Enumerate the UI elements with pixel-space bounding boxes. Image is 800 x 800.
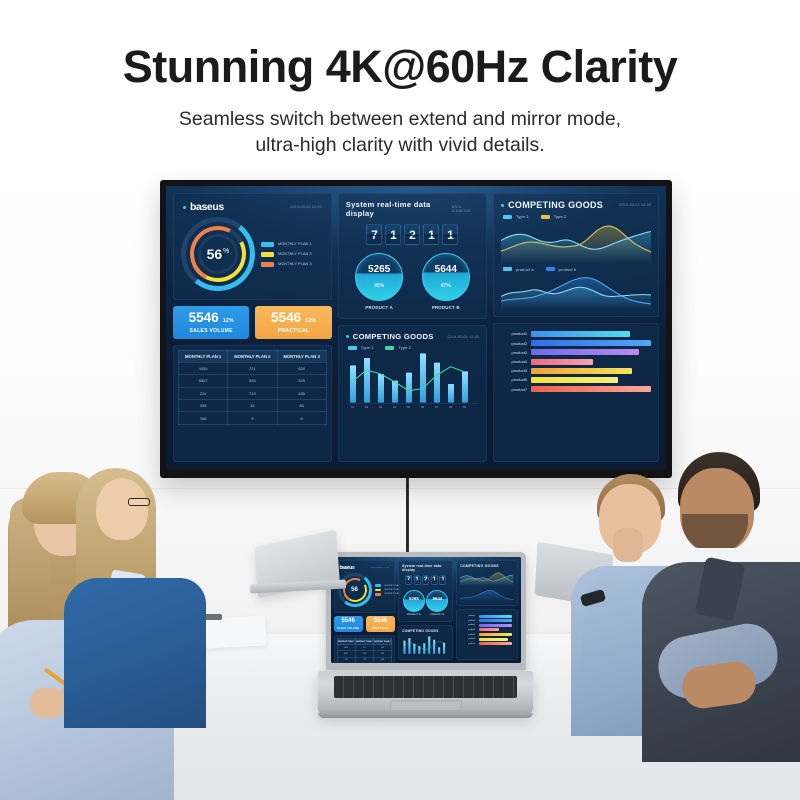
kpi-value: 5546 xyxy=(189,311,219,325)
list-item[interactable]: product3 xyxy=(462,624,511,627)
svg-text:01: 01 xyxy=(351,405,354,409)
kpi-delta: 12% xyxy=(305,318,316,324)
table-cell: 9 xyxy=(228,412,277,424)
gauge-label: PRODUCT B xyxy=(422,305,470,310)
legend-label: MONTHLY PLAN 3 xyxy=(278,262,312,266)
legend-chip-type1 xyxy=(503,215,512,219)
mirror-brand-name: baseus xyxy=(340,565,355,571)
donut-legend: MONTHLY PLAN 1 MONTHLY PLAN 2 MONTHLY PL… xyxy=(261,242,312,267)
flip-digit: 1 xyxy=(385,224,401,245)
flip-digit: 1 xyxy=(423,224,439,245)
area-fill-product-a xyxy=(501,287,651,310)
competing-right-legend-mid: product a product b xyxy=(501,263,651,274)
liquid-gauge: 5644 47% xyxy=(422,253,470,301)
table-row[interactable]: 4055 721 620 xyxy=(179,362,327,374)
kpi-value: 5546 xyxy=(368,618,393,624)
gauge-value: 5644 xyxy=(427,596,447,601)
gauge-item-product-a: 5265 45% PRODUCT A xyxy=(355,253,403,310)
bar-fill xyxy=(531,377,618,383)
table-row[interactable]: 766 9 8 xyxy=(179,412,327,424)
table-header-row: MONTHLY PLAN 1 MONTHLY PLAN 2 MONTHLY PL… xyxy=(179,350,327,362)
legend-item: product b xyxy=(546,267,577,272)
table-row[interactable]: 224 719 485 xyxy=(337,657,392,663)
mirror-kpi-practical[interactable]: 5546 PRACTICAL xyxy=(366,616,395,632)
bar-label: product4 xyxy=(462,629,475,631)
list-item[interactable]: product4 xyxy=(501,359,651,365)
person-man-front-right xyxy=(648,452,800,752)
mirror-kpi-sales[interactable]: 5546 SALES VOLUME xyxy=(334,616,363,632)
flip-digit: 2 xyxy=(422,575,429,585)
table-cell: 485 xyxy=(277,387,326,399)
mirror-gauge-a: 5265 PRODUCT A xyxy=(403,590,425,616)
donut-chart: 56% xyxy=(181,217,255,291)
head xyxy=(96,478,148,540)
mirror-ranking-card: product1 product2 product3 xyxy=(456,609,517,660)
headline-block: Stunning 4K@60Hz Clarity Seamless switch… xyxy=(0,42,800,158)
competing-right-stamp: 2019-03-02 12:30 xyxy=(619,203,651,207)
bar-fill xyxy=(531,331,630,337)
flip-digit: 1 xyxy=(442,224,458,245)
legend-chip-plan1 xyxy=(261,242,274,247)
table-cell: 620 xyxy=(277,362,326,374)
competing-goods-bar-line-chart: 010203 040506 070809 xyxy=(346,352,479,409)
list-item[interactable]: product2 xyxy=(501,340,651,346)
svg-text:04: 04 xyxy=(393,405,396,409)
kpi-row: 5546 12% SALES VOLUME 5546 12% PR xyxy=(173,306,332,339)
bar-label: product7 xyxy=(462,643,475,645)
laptop-keyboard[interactable] xyxy=(334,676,517,698)
gauge-label: PRODUCT A xyxy=(355,305,403,310)
svg-text:03: 03 xyxy=(379,405,382,409)
donut-value: 56 xyxy=(207,246,223,262)
bar-label: product5 xyxy=(462,634,475,636)
donut-center-value: 56% xyxy=(181,217,255,291)
hand xyxy=(30,688,66,718)
table-cell: 8507 xyxy=(179,375,228,387)
bar-fill xyxy=(479,628,499,631)
realtime-title-row: System real-time data display DATA COUNT… xyxy=(346,200,479,218)
competing-bottom-title: COMPETING GOODS xyxy=(346,332,434,341)
bar-label: product3 xyxy=(501,350,527,355)
legend-chip-plan2 xyxy=(261,252,274,257)
product-ranking-card: product1 product2 product3 xyxy=(493,323,659,462)
subtitle-line-1: Seamless switch between extend and mirro… xyxy=(0,106,800,132)
competing-goods-right-card: COMPETING GOODS 2019-03-02 12:30 Type 1 xyxy=(493,193,659,317)
legend-item: MONTHLY PLAN 3 xyxy=(261,262,312,267)
monthly-plan-table-card: MONTHLY PLAN 1 MONTHLY PLAN 2 MONTHLY PL… xyxy=(173,345,332,463)
svg-text:02: 02 xyxy=(365,405,368,409)
flip-digit: 7 xyxy=(405,575,412,585)
bar-label: product5 xyxy=(501,368,527,373)
dashboard-column-left: baseus 2019-03-02 12:30 xyxy=(173,193,332,462)
legend-chip-type2 xyxy=(541,215,550,219)
mirror-column-left: baseus 2019-03-02 12:30 5 xyxy=(334,560,396,660)
bar-fill xyxy=(531,386,651,392)
glasses-icon xyxy=(128,498,150,506)
kpi-value: 5546 xyxy=(271,311,301,325)
legend-chip-product-a xyxy=(503,267,512,271)
gauge-percent: 47% xyxy=(423,283,469,289)
brand-timestamp: 2019-03-02 12:30 xyxy=(290,205,322,209)
mirror-realtime-card: System real-time data display 7 1 2 1 1 xyxy=(398,560,453,622)
kpi-label: SALES VOLUME xyxy=(177,328,245,334)
list-item[interactable]: product5 xyxy=(462,633,511,636)
list-item[interactable]: product6 xyxy=(462,638,511,641)
laptop-trackpad[interactable] xyxy=(390,700,462,711)
bar-label: product2 xyxy=(501,341,527,346)
table-header-cell: MONTHLY PLAN 3 xyxy=(277,350,326,362)
bar-fill xyxy=(531,340,651,346)
list-item[interactable]: product7 xyxy=(501,386,651,392)
legend-chip-plan1 xyxy=(375,584,381,586)
list-item[interactable]: product7 xyxy=(462,642,511,645)
bar-fill xyxy=(531,359,592,365)
gauge-label: PRODUCT A xyxy=(403,614,425,616)
table-row[interactable]: 224 719 485 xyxy=(179,387,327,399)
table-cell: 83 xyxy=(277,400,326,412)
kpi-label: SALES VOLUME xyxy=(336,627,361,630)
flip-digit: 1 xyxy=(431,575,438,585)
donut-unit: % xyxy=(223,248,229,255)
legend-label: Type 1 xyxy=(516,214,529,219)
legend-item: Type 1 xyxy=(348,345,374,350)
bullet-icon xyxy=(501,204,504,207)
competing-goods-area-chart-top xyxy=(501,221,651,263)
bar-label: product6 xyxy=(501,377,527,382)
area-fill-type1 xyxy=(460,575,513,586)
list-item[interactable]: product1 xyxy=(462,615,511,618)
table-cell: 894 xyxy=(228,375,277,387)
bullet-icon xyxy=(346,335,349,338)
competing-bottom-stamp: 2019-03-02 13:30 xyxy=(448,335,480,339)
primary-laptop: baseus 2019-03-02 12:30 5 xyxy=(318,552,533,715)
flip-digit: 1 xyxy=(414,575,421,585)
mirror-column-right: COMPETING GOODS xyxy=(456,560,517,660)
bar-fill xyxy=(479,642,511,645)
legend-chip-type1 xyxy=(348,346,357,350)
brand-donut-card: baseus 2019-03-02 12:30 xyxy=(173,193,332,300)
table-row[interactable]: 455 32 83 xyxy=(179,400,327,412)
mirror-competing-bottom-card: COMPETING GOODS xyxy=(398,625,453,660)
mirror-realtime-title: System real-time data display xyxy=(402,564,449,572)
table-cell: 4055 xyxy=(179,362,228,374)
legend-item: MONTHLY PLAN 2 xyxy=(261,252,312,257)
torso-blazer xyxy=(64,578,206,728)
dashboard-mirror: baseus 2019-03-02 12:30 5 xyxy=(331,557,521,663)
svg-text:08: 08 xyxy=(449,405,452,409)
mirror-table-card: MONTHLY PLAN 1 MONTHLY PLAN 2 MONTHLY PL… xyxy=(334,635,396,663)
mirror-competing-right-title: COMPETING GOODS xyxy=(460,564,513,568)
mirror-competing-bottom-title: COMPETING GOODS xyxy=(402,629,449,633)
brand-name: baseus xyxy=(190,201,224,213)
mirror-brand-stamp: 2019-03-02 12:30 xyxy=(370,567,389,569)
legend-label: MONTHLY PLAN 1 xyxy=(278,242,312,246)
area-fill-type1 xyxy=(501,231,651,262)
bar-fill xyxy=(479,633,511,636)
kpi-top: 5546 12% xyxy=(259,311,327,325)
flip-digit: 7 xyxy=(366,224,382,245)
table-cell: 325 xyxy=(277,375,326,387)
mirror-table: MONTHLY PLAN 1 MONTHLY PLAN 2 MONTHLY PL… xyxy=(337,638,393,663)
mirror-donut-wrap: 56 MONTHLY PLAN 1 xyxy=(338,571,392,609)
mirror-bar-line-chart xyxy=(402,636,449,656)
competing-right-title: COMPETING GOODS xyxy=(501,200,603,210)
mirror-donut-value: 56 xyxy=(338,573,372,607)
legend-label: Type 1 xyxy=(361,345,374,350)
bar-fill xyxy=(479,615,511,618)
mirror-flip-counter: 7 1 2 1 1 xyxy=(402,572,449,588)
legend-label: Type 2 xyxy=(554,214,567,219)
table-cell: 32 xyxy=(228,400,277,412)
list-item[interactable]: product3 xyxy=(501,349,651,355)
competing-bottom-title-text: COMPETING GOODS xyxy=(353,332,434,341)
table-cell: 455 xyxy=(179,400,228,412)
dashboard-column-right: COMPETING GOODS 2019-03-02 12:30 Type 1 xyxy=(493,193,659,462)
chart-x-ticks: 010203 040506 070809 xyxy=(351,405,466,409)
realtime-title: System real-time data display xyxy=(346,200,452,218)
svg-text:05: 05 xyxy=(407,405,410,409)
gauge-item-product-b: 5644 47% PRODUCT B xyxy=(422,253,470,310)
table-header-cell: MONTHLY PLAN 2 xyxy=(228,350,277,362)
brand: baseus xyxy=(183,201,224,213)
kpi-card-sales-volume[interactable]: 5546 12% SALES VOLUME xyxy=(173,306,249,339)
table-header-cell: MONTHLY PLAN 1 xyxy=(179,350,228,362)
product-ranking-bar-list: product1 product2 product3 xyxy=(499,329,653,392)
legend-label: Type 2 xyxy=(398,345,411,350)
bullet-icon xyxy=(183,206,186,209)
mirror-area-chart-mid xyxy=(460,589,513,602)
mirror-kpi-row: 5546 SALES VOLUME 5546 PRACTICAL xyxy=(334,616,396,632)
dashboard: baseus 2019-03-02 12:30 xyxy=(166,186,666,469)
legend-item: Type 2 xyxy=(541,214,567,219)
table-cell: 719 xyxy=(228,387,277,399)
competing-right-title-row: COMPETING GOODS 2019-03-02 12:30 xyxy=(501,200,651,210)
gauge-percent: 45% xyxy=(356,283,402,289)
bar-label: product7 xyxy=(501,387,527,392)
bar-fill xyxy=(479,638,508,641)
table-body: 4055 721 620 8507 894 325 xyxy=(179,362,327,424)
bar-label: product1 xyxy=(462,615,475,617)
competing-bottom-title-row: COMPETING GOODS 2019-03-02 13:30 xyxy=(346,332,479,341)
page-subtitle: Seamless switch between extend and mirro… xyxy=(0,106,800,159)
competing-right-title-text: COMPETING GOODS xyxy=(508,200,603,210)
liquid-gauge: 5644 xyxy=(426,590,448,612)
svg-text:06: 06 xyxy=(421,405,424,409)
legend-label: MONTHLY PLAN 2 xyxy=(278,252,312,256)
table-cell: 721 xyxy=(228,362,277,374)
table-cell: 224 xyxy=(179,387,228,399)
legend-label: product b xyxy=(559,267,577,272)
legend-item: Type 2 xyxy=(385,345,411,350)
mirror-bar-list: product1 product2 product3 xyxy=(460,613,513,646)
bar-label: product1 xyxy=(501,331,527,336)
bar-fill xyxy=(531,349,639,355)
list-item[interactable]: product6 xyxy=(501,377,651,383)
person-woman-back-left xyxy=(62,468,212,718)
chart-bars xyxy=(350,353,468,402)
liquid-gauge: 5265 xyxy=(403,590,425,612)
area-fill-product-b xyxy=(460,590,513,601)
table-row[interactable]: 8507 894 325 xyxy=(179,375,327,387)
legend-label: product a xyxy=(516,267,534,272)
bar-fill xyxy=(479,619,511,622)
bar-label: product4 xyxy=(501,359,527,364)
gauge-row: 5265 45% PRODUCT A 5644 47% xyxy=(346,249,479,312)
kpi-delta: 12% xyxy=(223,318,234,324)
mirror-donut: 56 xyxy=(338,573,372,607)
wall-monitor: baseus 2019-03-02 12:30 xyxy=(160,180,672,478)
table-cell: 224 xyxy=(337,657,355,663)
list-item[interactable]: product4 xyxy=(462,628,511,631)
legend-chip-plan3 xyxy=(261,262,274,267)
competing-bottom-legend: Type 1 Type 2 xyxy=(346,341,479,352)
chart-bars xyxy=(404,636,446,653)
competing-goods-bottom-card: COMPETING GOODS 2019-03-02 13:30 Type 1 xyxy=(338,325,487,462)
competing-right-legend-top: Type 1 Type 2 xyxy=(501,210,651,221)
flip-counter: 7 1 2 1 1 xyxy=(346,218,479,249)
liquid-gauge: 5265 45% xyxy=(355,253,403,301)
kpi-value: 5546 xyxy=(336,618,361,624)
svg-text:07: 07 xyxy=(435,405,438,409)
legend-chip-plan2 xyxy=(375,589,381,591)
legend-item: MONTHLY PLAN 1 xyxy=(261,242,312,247)
table-cell: 766 xyxy=(179,412,228,424)
mirror-area-chart-top xyxy=(460,571,513,586)
kpi-label: PRACTICAL xyxy=(368,627,393,630)
mirror-gauge-b: 5644 PRODUCT B xyxy=(426,590,448,616)
mirror-brand-row: baseus 2019-03-02 12:30 xyxy=(338,564,392,571)
table-cell: 719 xyxy=(355,657,373,663)
list-item[interactable]: product2 xyxy=(462,619,511,622)
kpi-top: 5546 12% xyxy=(177,311,245,325)
table-head: MONTHLY PLAN 1 MONTHLY PLAN 2 MONTHLY PL… xyxy=(179,350,327,362)
legend-chip-plan3 xyxy=(375,593,381,595)
table-cell: 8 xyxy=(277,412,326,424)
page-title: Stunning 4K@60Hz Clarity xyxy=(0,42,800,92)
monthly-plan-table: MONTHLY PLAN 1 MONTHLY PLAN 2 MONTHLY PL… xyxy=(178,350,327,425)
laptop-screen: baseus 2019-03-02 12:30 5 xyxy=(331,557,521,663)
gauge-value: 5644 xyxy=(423,264,469,275)
list-item[interactable]: product1 xyxy=(501,331,651,337)
conference-room-scene: baseus 2019-03-02 12:30 xyxy=(0,170,800,800)
realtime-card: System real-time data display DATA COUNT… xyxy=(338,193,487,319)
hand xyxy=(613,528,643,562)
table-cell: 485 xyxy=(373,657,391,663)
gauge-value: 5265 xyxy=(356,264,402,275)
legend-chip-product-b xyxy=(546,267,555,271)
laptop-lid: baseus 2019-03-02 12:30 5 xyxy=(326,552,526,670)
flip-digit: 1 xyxy=(439,575,446,585)
mirror-column-middle: System real-time data display 7 1 2 1 1 xyxy=(398,560,453,660)
brand-row: baseus 2019-03-02 12:30 xyxy=(181,200,324,213)
kpi-label: PRACTICAL xyxy=(259,328,327,334)
kpi-card-practical[interactable]: 5546 12% PRACTICAL xyxy=(255,306,331,339)
bar-label: product2 xyxy=(462,620,475,622)
flip-digit: 2 xyxy=(404,224,420,245)
mirror-gauge-row: 5265 PRODUCT A 5644 PRODUCT B xyxy=(402,588,449,618)
legend-item: Type 1 xyxy=(503,214,529,219)
product-banner: Stunning 4K@60Hz Clarity Seamless switch… xyxy=(0,0,800,800)
legend-item: product a xyxy=(503,267,534,272)
list-item[interactable]: product5 xyxy=(501,368,651,374)
monitor-screen: baseus 2019-03-02 12:30 xyxy=(166,186,666,469)
realtime-stamp: DATA COUNTER xyxy=(452,205,480,213)
laptop-base xyxy=(318,671,533,715)
bar-fill xyxy=(531,368,631,374)
subtitle-line-2: ultra-high clarity with vivid details. xyxy=(0,132,800,158)
donut-chart-wrap: 56% MONTHLY PLAN 1 xyxy=(181,213,324,293)
gauge-label: PRODUCT B xyxy=(426,614,448,616)
bar-fill xyxy=(479,624,511,627)
svg-text:09: 09 xyxy=(463,405,466,409)
dashboard-column-middle: System real-time data display DATA COUNT… xyxy=(338,193,487,462)
legend-chip-type2 xyxy=(385,346,394,350)
bar-label: product6 xyxy=(462,638,475,640)
bar-label: product3 xyxy=(462,624,475,626)
gauge-value: 5265 xyxy=(404,596,424,601)
competing-goods-area-chart-mid xyxy=(501,274,651,310)
mirror-competing-right-card: COMPETING GOODS xyxy=(456,560,517,606)
laptop-foot xyxy=(318,713,533,718)
